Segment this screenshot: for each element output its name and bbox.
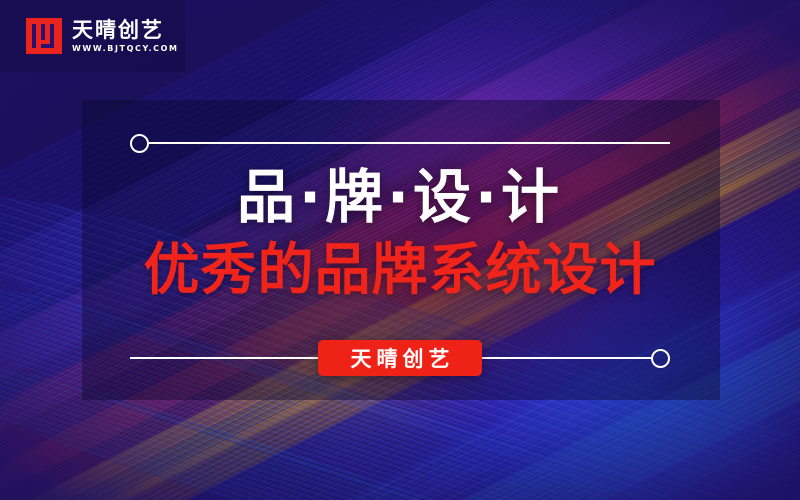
logo-lockup[interactable]: 天晴创艺 WWW.BJTQCY.COM: [0, 0, 185, 72]
logo-text-block: 天晴创艺 WWW.BJTQCY.COM: [72, 19, 179, 53]
logo-glyph-icon: [26, 18, 62, 54]
headline-title: 品·牌·设·计: [0, 168, 800, 226]
decor-circle-left: [130, 134, 149, 153]
subheadline-title: 优秀的品牌系统设计: [0, 243, 800, 299]
logo-company-name: 天晴创艺: [72, 19, 179, 41]
decor-rule-top: [130, 142, 670, 144]
decor-circle-right: [651, 349, 670, 368]
logo-website-url: WWW.BJTQCY.COM: [72, 44, 179, 53]
brand-badge-label: 天晴创艺: [346, 343, 455, 373]
brand-badge[interactable]: 天晴创艺: [318, 340, 482, 376]
banner-canvas: 天晴创艺 WWW.BJTQCY.COM 品·牌·设·计 优秀的品牌系统设计 天晴…: [0, 0, 800, 500]
decor-line-top: [149, 142, 670, 144]
